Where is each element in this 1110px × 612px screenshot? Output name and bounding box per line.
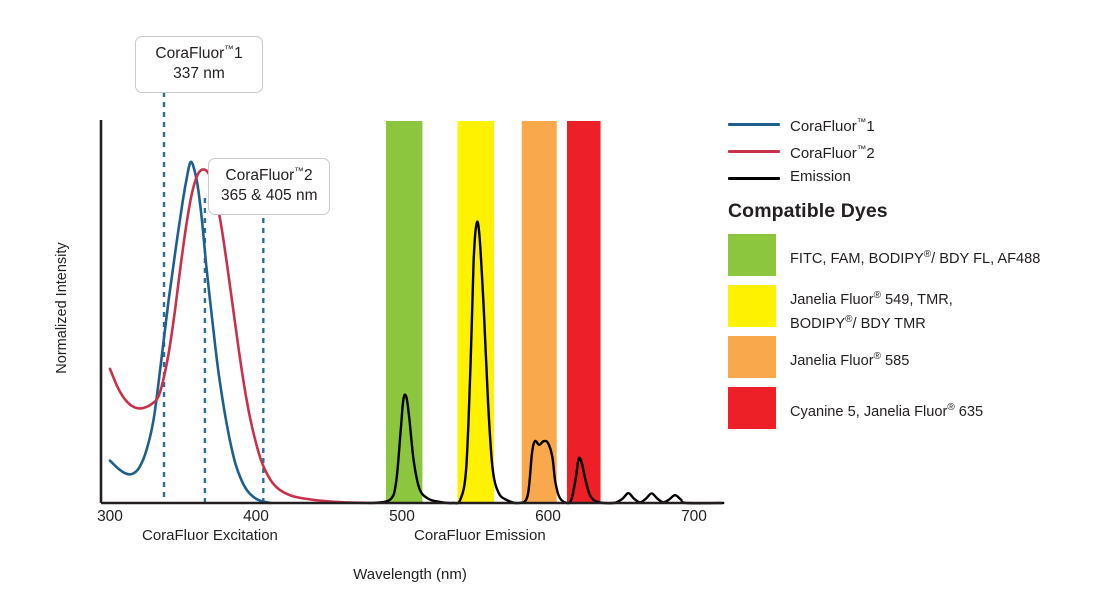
x-tick-400: 400 — [226, 508, 286, 526]
legend-label: CoraFluor™2 — [790, 139, 875, 165]
emission-band-1 — [457, 121, 494, 503]
legend-line-swatch — [728, 150, 780, 153]
registered-icon: ® — [874, 290, 881, 301]
spectrum-curve-1 — [110, 169, 373, 503]
legend-item-1[interactable]: CoraFluor™2 — [728, 139, 1100, 166]
legend-label: CoraFluor™1 — [790, 112, 875, 138]
x-axis-title: Wavelength (nm) — [0, 566, 820, 583]
callout-corafluor1: CoraFluor™1 337 nm — [135, 36, 263, 93]
x-tick-300: 300 — [80, 508, 140, 526]
callout-corafluor2-value: 365 & 405 nm — [221, 186, 317, 206]
x-tick-600: 600 — [518, 508, 578, 526]
y-axis-title: Normalized Intensity — [54, 218, 70, 398]
legend-item-2[interactable]: Emission — [728, 166, 1100, 193]
legend-line-swatch — [728, 123, 780, 126]
compatible-dyes-list: FITC, FAM, BODIPY®/ BDY FL, AF488Janelia… — [728, 234, 1108, 438]
compatible-dyes-heading: Compatible Dyes — [728, 200, 888, 223]
dye-item-1[interactable]: Janelia Fluor® 549, TMR,BODIPY®/ BDY TMR — [728, 285, 1108, 336]
registered-icon: ® — [874, 351, 881, 362]
trademark-icon: ™ — [294, 166, 304, 177]
dye-label: FITC, FAM, BODIPY®/ BDY FL, AF488 — [790, 245, 1040, 269]
axis-region-excitation: CoraFluor Excitation — [142, 527, 278, 544]
dye-label: Cyanine 5, Janelia Fluor® 635 — [790, 398, 983, 422]
legend-line-swatch — [728, 177, 780, 180]
registered-icon: ® — [845, 314, 852, 325]
emission-band-0 — [386, 121, 423, 503]
dye-item-2[interactable]: Janelia Fluor® 585 — [728, 336, 1108, 387]
callout-corafluor1-title: CoraFluor™1 — [148, 44, 250, 64]
dye-item-3[interactable]: Cyanine 5, Janelia Fluor® 635 — [728, 387, 1108, 438]
registered-icon: ® — [947, 402, 954, 413]
emission-band-3 — [567, 121, 601, 503]
trademark-icon: ™ — [857, 117, 867, 128]
spectra-figure: CoraFluor™1 337 nm CoraFluor™2 365 & 405… — [0, 0, 1110, 612]
callout-corafluor1-value: 337 nm — [148, 64, 250, 84]
legend-label: Emission — [790, 166, 851, 188]
dye-label: Janelia Fluor® 549, TMR,BODIPY®/ BDY TMR — [790, 286, 953, 334]
x-tick-500: 500 — [372, 508, 432, 526]
dye-color-swatch — [728, 285, 776, 327]
dye-label: Janelia Fluor® 585 — [790, 347, 909, 371]
dye-color-swatch — [728, 234, 776, 276]
trademark-icon: ™ — [224, 44, 234, 55]
callout-corafluor2-title: CoraFluor™2 — [221, 166, 317, 186]
trademark-icon: ™ — [857, 144, 867, 155]
dye-color-swatch — [728, 336, 776, 378]
x-tick-700: 700 — [664, 508, 724, 526]
callout-corafluor2: CoraFluor™2 365 & 405 nm — [208, 158, 330, 215]
dye-color-swatch — [728, 387, 776, 429]
dye-item-0[interactable]: FITC, FAM, BODIPY®/ BDY FL, AF488 — [728, 234, 1108, 285]
legend-item-0[interactable]: CoraFluor™1 — [728, 112, 1100, 139]
registered-icon: ® — [924, 249, 931, 260]
series-legend: CoraFluor™1CoraFluor™2Emission — [728, 112, 1100, 193]
axis-region-emission: CoraFluor Emission — [414, 527, 546, 544]
